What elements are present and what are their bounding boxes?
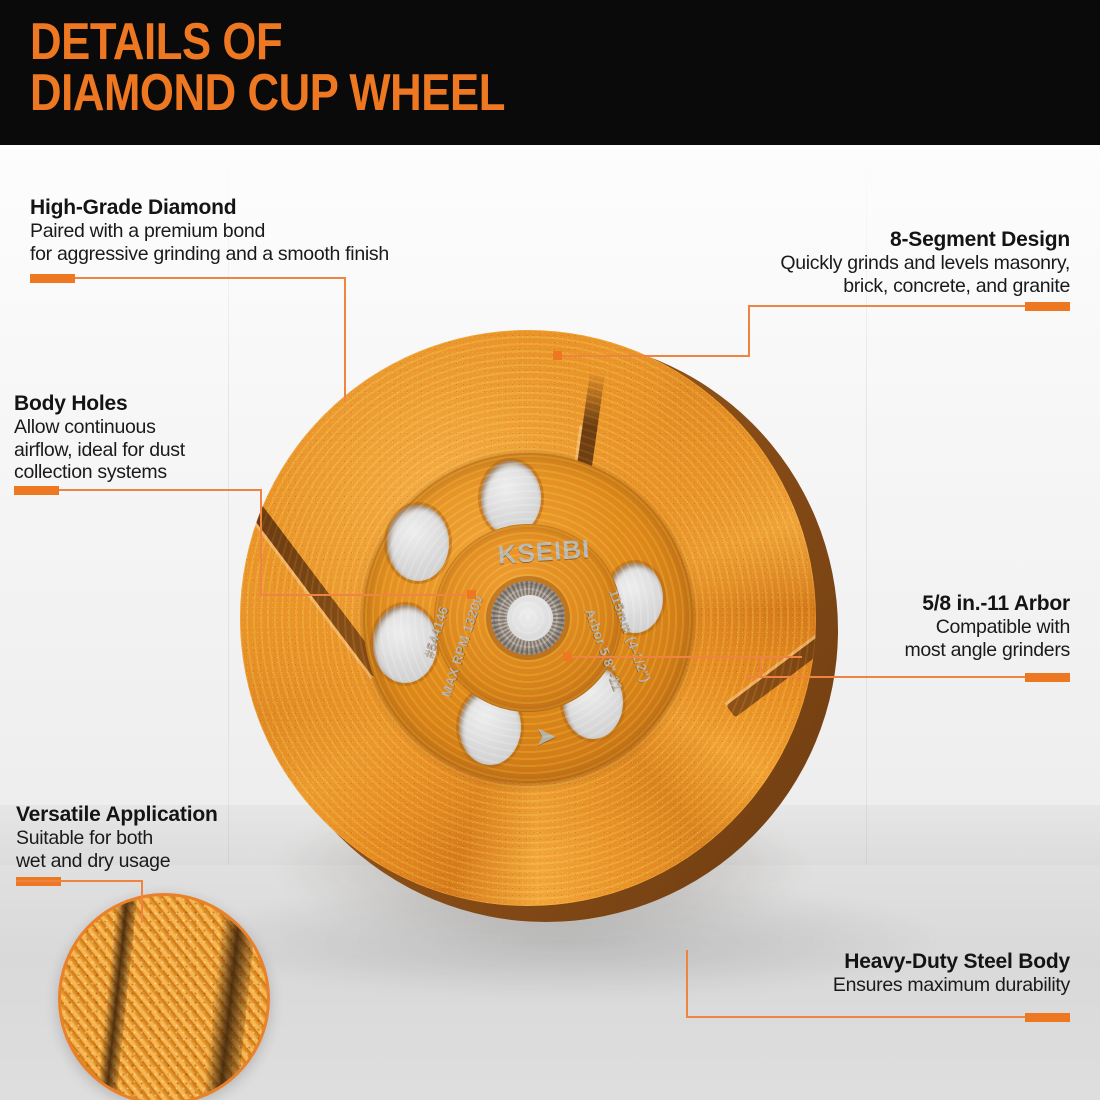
body-hole [459, 689, 521, 765]
body-hole [481, 461, 541, 535]
callout-marker-8-segment-design [553, 351, 562, 360]
callout-connector-body-holes [260, 489, 262, 596]
callout-marker-arbor [563, 652, 572, 661]
diameter-text: 115mm (4-1/2") [606, 588, 654, 685]
max-rpm-text: MAX RPM 13200 [438, 593, 485, 699]
callout-rule-heavy-duty-steel-body [686, 1016, 1070, 1018]
infographic-canvas: DETAILS OF DIAMOND CUP WHEEL [0, 0, 1100, 1100]
brand-logo-kseibi: KSEIBI [497, 533, 592, 570]
wheel-hub-inner [434, 524, 622, 712]
callout-connector-body-holes-lead [260, 594, 472, 596]
callout-stub-high-grade-diamond [30, 274, 75, 283]
callout-body-holes: Body Holes Allow continuous airflow, ide… [14, 392, 344, 484]
callout-marker-body-holes [467, 590, 476, 599]
body-hole [607, 563, 663, 633]
callout-title: High-Grade Diamond [30, 196, 550, 220]
callout-connector-heavy-duty-steel-body [686, 950, 688, 1018]
callout-versatile-application: Versatile Application Suitable for both … [16, 803, 356, 872]
callout-description: Suitable for both wet and dry usage [16, 827, 356, 872]
wheel-segment-groove [783, 888, 816, 906]
model-number-text: #544146 [421, 604, 452, 659]
callout-stub-body-holes [14, 486, 59, 495]
callout-connector-high-grade-diamond [344, 277, 346, 401]
callout-description: Quickly grinds and levels masonry, brick… [580, 252, 1070, 297]
callout-rule-high-grade-diamond [30, 277, 345, 279]
callout-rule-arbor [746, 676, 1070, 678]
callout-description: Compatible with most angle grinders [700, 616, 1070, 661]
callout-connector-8-segment-design-lead [560, 355, 750, 357]
callout-stub-8-segment-design [1025, 302, 1070, 311]
callout-8-segment-design: 8-Segment Design Quickly grinds and leve… [580, 228, 1070, 297]
rotation-direction-arrow-icon: ➤ [535, 723, 557, 749]
callout-description: Paired with a premium bond for aggressiv… [30, 220, 550, 265]
callout-title: 5/8 in.-11 Arbor [700, 592, 1070, 616]
callout-title: Versatile Application [16, 803, 356, 827]
wheel-hub-plate: KSEIBI #544146 MAX RPM 13200 115mm (4-1/… [363, 453, 693, 783]
callout-stub-heavy-duty-steel-body [1025, 1013, 1070, 1022]
header-banner: DETAILS OF DIAMOND CUP WHEEL [0, 0, 1100, 145]
arbor-bore-threaded [491, 581, 565, 655]
callout-title: 8-Segment Design [580, 228, 1070, 252]
callout-connector-versatile-application-down [141, 880, 143, 922]
callout-connector-8-segment-design [748, 305, 750, 357]
callout-high-grade-diamond: High-Grade Diamond Paired with a premium… [30, 196, 550, 265]
callout-connector-arbor-step [760, 656, 762, 678]
wheel-segment-groove [555, 371, 605, 621]
body-hole [563, 665, 623, 739]
callout-stub-arbor [1025, 673, 1070, 682]
callout-title: Heavy-Duty Steel Body [700, 950, 1070, 974]
callout-title: Body Holes [14, 392, 344, 416]
arbor-spec-text: Arbor 5/8"-11 [582, 607, 626, 693]
callout-description: Allow continuous airflow, ideal for dust… [14, 416, 344, 484]
callout-connector-arbor-lead [568, 656, 802, 658]
arbor-bore-opening [507, 595, 553, 641]
page-title: DETAILS OF DIAMOND CUP WHEEL [30, 17, 505, 119]
magnified-grit-inset [58, 893, 270, 1100]
body-hole [373, 605, 437, 683]
callout-rule-8-segment-design [748, 305, 1070, 307]
callout-connector-versatile-application [16, 880, 143, 882]
callout-heavy-duty-steel-body: Heavy-Duty Steel Body Ensures maximum du… [700, 950, 1070, 997]
callout-arbor: 5/8 in.-11 Arbor Compatible with most an… [700, 592, 1070, 661]
callout-description: Ensures maximum durability [700, 974, 1070, 997]
body-hole [387, 505, 449, 581]
